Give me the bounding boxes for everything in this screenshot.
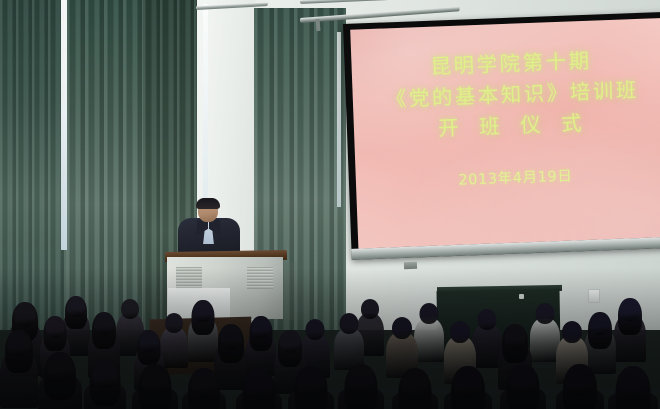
audience-member — [444, 366, 492, 409]
window-light-gap-3 — [337, 32, 341, 207]
audience-member-head — [450, 321, 470, 343]
audience-member — [338, 364, 384, 409]
audience-member-head — [536, 303, 555, 324]
seated-audience — [0, 268, 660, 409]
audience-member-head — [140, 331, 159, 352]
audience-member-head — [348, 365, 375, 395]
audience-member-head — [191, 369, 217, 398]
audience-member-head — [15, 303, 36, 327]
audience-member — [500, 364, 546, 409]
audience-member-head — [165, 313, 183, 333]
audience-member-head — [93, 361, 118, 389]
window-light-gap-2 — [203, 4, 208, 214]
audience-member-head — [252, 317, 271, 338]
slide-content: 昆明学院第十期 《党的基本知识》培训班 开 班 仪 式 2013年4月19日 — [350, 18, 660, 249]
audience-member — [160, 312, 188, 368]
audience-member-head — [340, 313, 359, 334]
audience-member-head — [562, 321, 582, 343]
audience-member-head — [454, 367, 482, 398]
audience-member-head — [194, 301, 213, 322]
audience-member-head — [46, 317, 65, 338]
lecture-hall-photo: 昆明学院第十期 《党的基本知识》培训班 开 班 仪 式 2013年4月19日 — [0, 0, 660, 409]
audience-member-head — [620, 299, 640, 321]
audience-member-head — [510, 365, 537, 395]
audience-member — [334, 312, 364, 370]
audience-member-head — [280, 331, 300, 353]
audience-member-body — [160, 327, 188, 368]
audience-member-head — [47, 353, 73, 382]
projection-screen: 昆明学院第十期 《党的基本知识》培训班 开 班 仪 式 2013年4月19日 — [343, 12, 660, 260]
audience-member — [246, 316, 276, 376]
audience-member-head — [221, 325, 242, 349]
audience-member — [288, 366, 334, 409]
audience-member — [614, 298, 646, 362]
speaker-at-podium — [176, 199, 242, 257]
audience-member-head — [566, 365, 594, 396]
audience-member — [84, 360, 126, 409]
audience-member-head — [619, 367, 648, 399]
slide-title-line-3: 开 班 仪 式 — [438, 108, 590, 145]
audience-member — [182, 368, 226, 409]
audience-member-head — [306, 319, 325, 340]
audience-member-head — [298, 367, 325, 397]
audience-member — [414, 302, 444, 362]
audience-member-head — [142, 365, 169, 395]
audience-member-head — [402, 369, 429, 399]
audience-member — [236, 368, 282, 409]
projection-screen-surface: 昆明学院第十期 《党的基本知识》培训班 开 班 仪 式 2013年4月19日 — [350, 18, 660, 249]
audience-member — [132, 364, 178, 409]
audience-member-head — [420, 303, 439, 324]
audience-member — [392, 368, 438, 409]
audience-member-head — [94, 313, 114, 335]
audience-member-head — [392, 317, 412, 339]
rail-bracket — [316, 19, 321, 31]
audience-member — [38, 352, 82, 409]
audience-member-head — [590, 313, 610, 335]
audience-member-head — [8, 331, 31, 357]
window-light-gap-1 — [61, 0, 67, 250]
audience-member — [0, 330, 38, 408]
audience-member — [608, 366, 658, 409]
audience-member-head — [67, 297, 85, 317]
audience-member — [556, 364, 604, 409]
audience-member-head — [478, 309, 497, 330]
speaker-hair — [196, 198, 220, 209]
audience-member-head — [246, 369, 273, 399]
audience-member-body — [414, 318, 444, 362]
slide-title-line-2: 《党的基本知识》培训班 — [385, 75, 639, 116]
slide-date: 2013年4月19日 — [458, 165, 573, 190]
audience-member-head — [121, 299, 139, 319]
audience-member-head — [505, 325, 526, 349]
